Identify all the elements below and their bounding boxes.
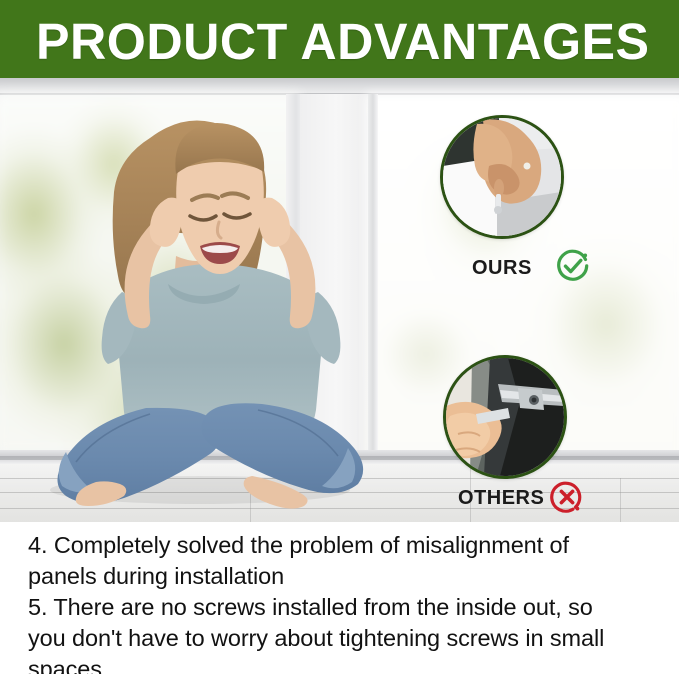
ours-thumbnail-image [443,118,561,236]
others-thumbnail-image [446,358,564,476]
others-label: OTHERS [458,487,544,510]
hero-photo [0,78,679,522]
description-line: spaces. [28,654,660,674]
woman-illustration [0,78,440,522]
description-block: 4. Completely solved the problem of misa… [0,522,679,674]
product-advantages-infographic: PRODUCT ADVANTAGES [0,0,679,674]
description-text: 4. Completely solved the problem of misa… [28,530,660,674]
check-icon [556,249,590,283]
others-thumbnail [443,355,567,479]
floor-plank-seam [620,478,621,522]
description-line: 4. Completely solved the problem of misa… [28,530,660,561]
x-icon [550,480,584,514]
ours-thumbnail [440,115,564,239]
description-line: you don't have to worry about tightening… [28,623,660,654]
ours-label: OURS [472,257,532,280]
description-line: 5. There are no screws installed from th… [28,592,660,623]
page-title: PRODUCT ADVANTAGES [36,14,642,72]
header-banner: PRODUCT ADVANTAGES [0,0,679,78]
description-line: panels during installation [28,561,660,592]
